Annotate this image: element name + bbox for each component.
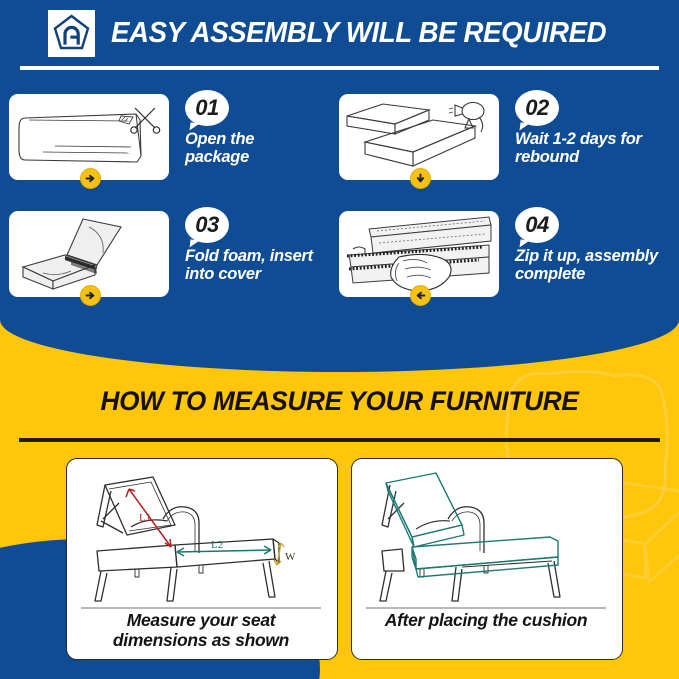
measure-panels: L1 L2 W	[0, 458, 679, 668]
assembly-steps: 01 Open the package	[0, 88, 679, 318]
panel-1-caption-line-1: Measure your seat	[127, 610, 276, 630]
measure-panel-cushion: After placing the cushion	[351, 458, 623, 660]
panel-1-caption: Measure your seat dimensions as shown	[67, 611, 335, 651]
step-4-number: 04	[515, 207, 559, 243]
step-2-text: 02 Wait 1-2 days for rebound	[515, 88, 675, 167]
dimension-label-w: W	[285, 551, 296, 563]
panel-2-caption-line-1: After placing the cushion	[385, 610, 588, 630]
step-2-label-line-1: Wait 1-2 days for	[515, 130, 642, 148]
dimension-label-l1: L1	[139, 512, 151, 524]
chaise-lounge-with-dimension-arrows-illustration: L1 L2 W	[67, 459, 335, 607]
step-4-label-line-2: complete	[515, 265, 585, 283]
step-3-card	[9, 211, 169, 297]
step-3-label-line-2: into cover	[185, 265, 261, 283]
panel-1-divider	[81, 607, 321, 609]
header-divider	[20, 66, 659, 70]
arrow-left-icon	[410, 285, 431, 306]
step-2-number: 02	[515, 90, 559, 126]
step-3-label-line-1: Fold foam, insert	[185, 247, 313, 265]
step-2-label-line-2: rebound	[515, 148, 579, 166]
chaise-lounge-with-cushion-illustration	[352, 459, 620, 607]
assembly-step-1: 01 Open the package	[9, 88, 345, 201]
step-4-label: Zip it up, assembly complete	[515, 248, 675, 284]
step-2-card	[339, 94, 499, 180]
step-4-label-line-1: Zip it up, assembly	[515, 247, 658, 265]
arrow-down-icon	[410, 168, 431, 189]
assembly-step-3: 03 Fold foam, insert into cover	[9, 205, 345, 318]
step-1-number: 01	[185, 90, 229, 126]
panel-2-caption: After placing the cushion	[352, 611, 620, 631]
assembly-header: EASY ASSEMBLY WILL BE REQUIRED	[0, 0, 679, 66]
house-pentagon-icon	[48, 10, 95, 57]
step-3-label: Fold foam, insert into cover	[185, 248, 345, 284]
step-1-card	[9, 94, 169, 180]
measure-panel-dimensions: L1 L2 W	[66, 458, 338, 660]
arrow-right-icon	[80, 168, 101, 189]
assembly-step-4: 04 Zip it up, assembly complete	[339, 205, 675, 318]
infographic-page: EASY ASSEMBLY WILL BE REQUIRED	[0, 0, 679, 679]
step-2-label: Wait 1-2 days for rebound	[515, 131, 675, 167]
step-4-card	[339, 211, 499, 297]
measure-title: HOW TO MEASURE YOUR FURNITURE	[10, 386, 669, 417]
arrow-right-icon	[80, 285, 101, 306]
panel-2-divider	[366, 607, 606, 609]
dimension-label-l2: L2	[211, 539, 223, 551]
panel-1-caption-line-2: dimensions as shown	[113, 630, 289, 650]
step-1-label-line-2: package	[185, 148, 249, 166]
measure-section: HOW TO MEASURE YOUR FURNITURE	[0, 318, 679, 679]
measure-title-divider	[19, 438, 660, 442]
step-4-text: 04 Zip it up, assembly complete	[515, 205, 675, 284]
step-1-label: Open the package	[185, 131, 345, 167]
step-1-text: 01 Open the package	[185, 88, 345, 167]
step-3-number: 03	[185, 207, 229, 243]
assembly-step-2: 02 Wait 1-2 days for rebound	[339, 88, 675, 201]
assembly-section: EASY ASSEMBLY WILL BE REQUIRED	[0, 0, 679, 372]
step-3-text: 03 Fold foam, insert into cover	[185, 205, 345, 284]
page-title: EASY ASSEMBLY WILL BE REQUIRED	[111, 17, 606, 50]
step-1-label-line-1: Open the	[185, 130, 254, 148]
